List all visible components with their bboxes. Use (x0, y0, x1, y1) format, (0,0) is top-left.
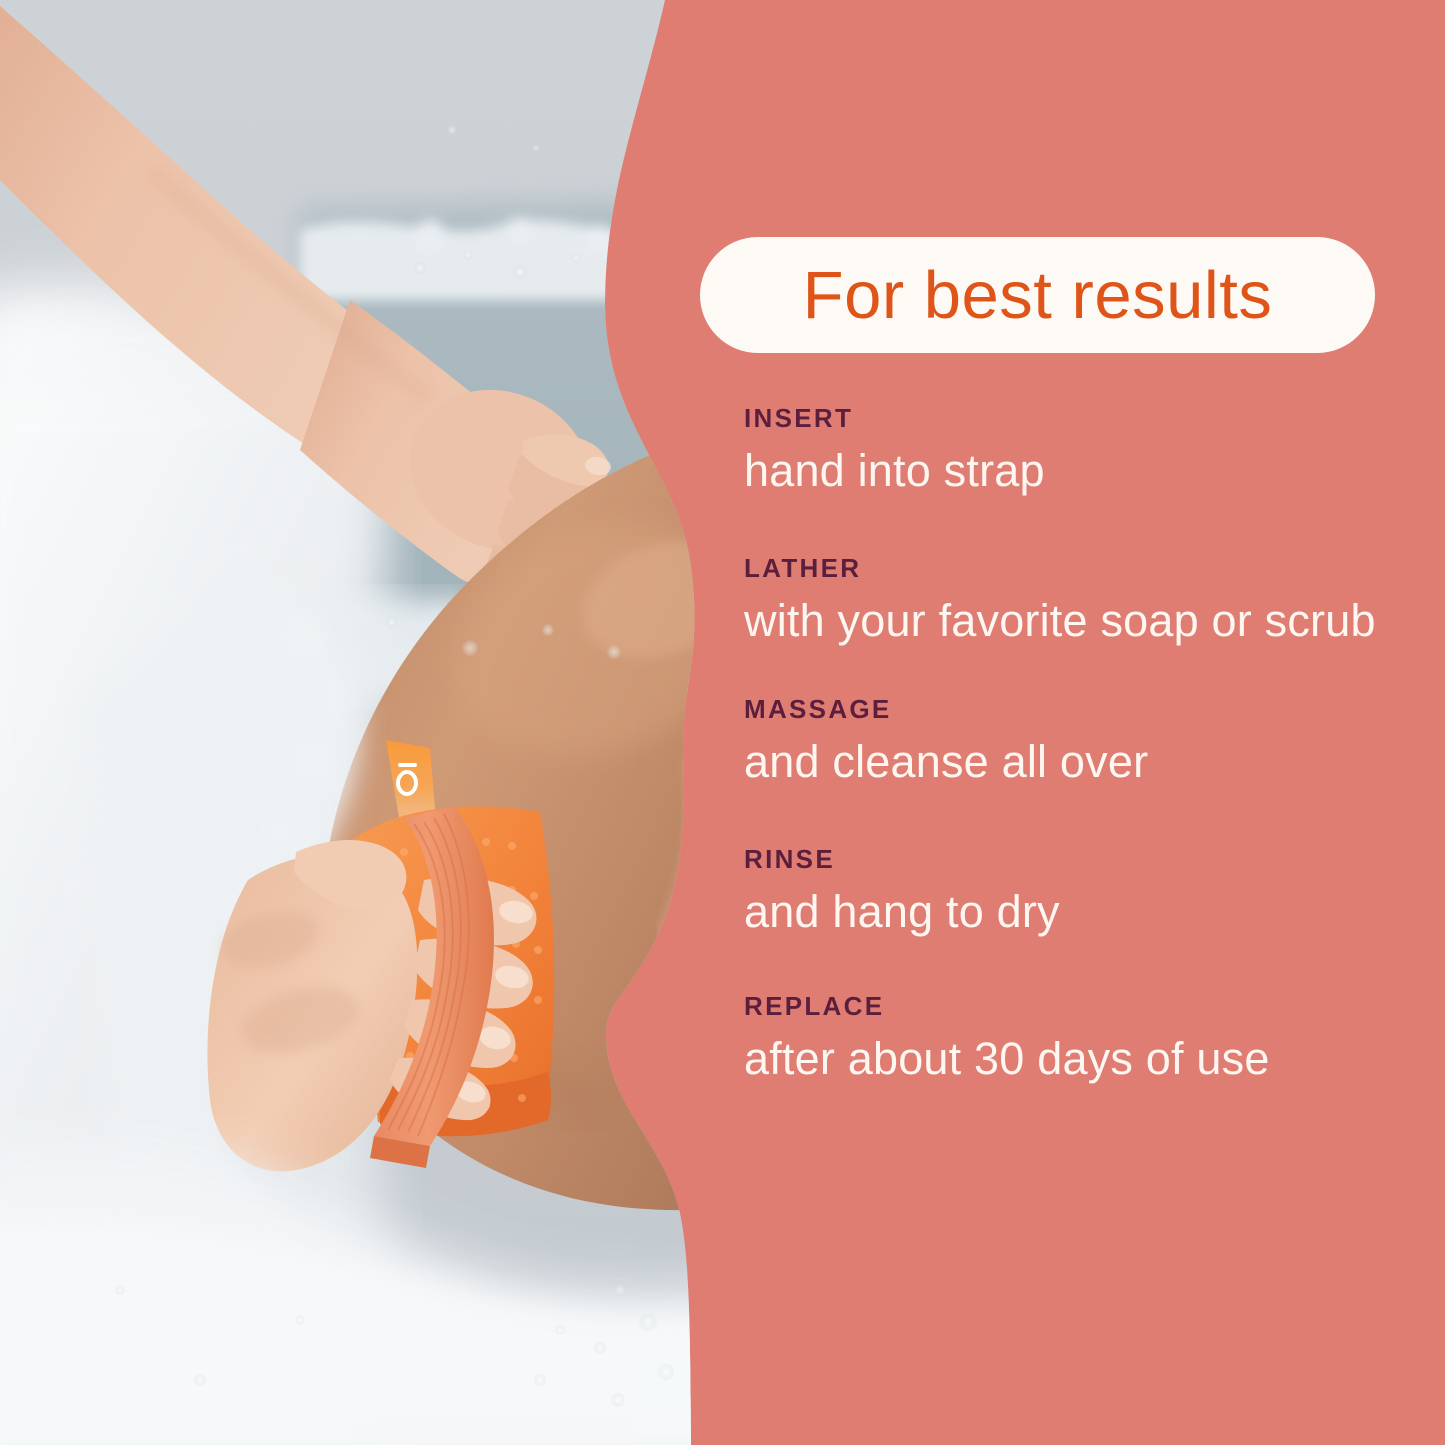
step-label: RINSE (744, 845, 1404, 874)
step-text: after about 30 days of use (744, 1032, 1404, 1087)
step-item: LATHER with your favorite soap or scrub (744, 554, 1404, 648)
step-text: and cleanse all over (744, 735, 1404, 790)
step-text: and hang to dry (744, 885, 1404, 940)
step-item: INSERT hand into strap (744, 404, 1404, 498)
step-text: with your favorite soap or scrub (744, 594, 1404, 649)
step-item: RINSE and hang to dry (744, 845, 1404, 939)
steps-list: INSERT hand into strap LATHER with your … (744, 404, 1404, 1086)
step-label: REPLACE (744, 992, 1404, 1021)
step-item: MASSAGE and cleanse all over (744, 695, 1404, 789)
step-label: MASSAGE (744, 695, 1404, 724)
lifestyle-photo (0, 0, 740, 1445)
step-item: REPLACE after about 30 days of use (744, 992, 1404, 1086)
bath-photo-illustration (0, 0, 740, 1445)
promo-graphic: For best results INSERT hand into strap … (0, 0, 1445, 1445)
step-label: INSERT (744, 404, 1404, 433)
page-title: For best results (803, 262, 1273, 329)
title-pill: For best results (700, 237, 1375, 353)
step-label: LATHER (744, 554, 1404, 583)
step-text: hand into strap (744, 444, 1404, 499)
